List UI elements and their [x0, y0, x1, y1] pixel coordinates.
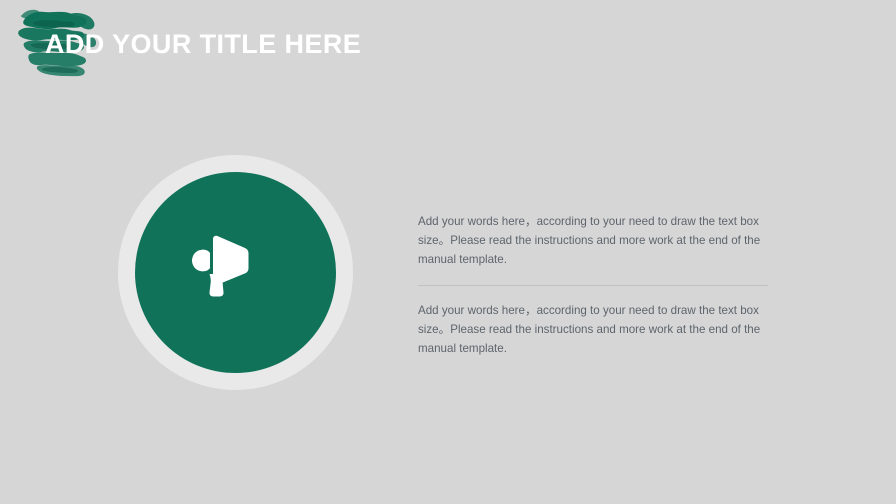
icon-medallion — [118, 155, 353, 390]
paragraph-divider — [418, 285, 768, 286]
page-title: ADD YOUR TITLE HERE — [45, 28, 361, 60]
text-column: Add your words here，according to your ne… — [418, 212, 770, 358]
body-paragraph-2: Add your words here，according to your ne… — [418, 301, 770, 358]
title-block: ADD YOUR TITLE HERE — [0, 0, 420, 95]
megaphone-icon — [173, 213, 269, 309]
body-paragraph-1: Add your words here，according to your ne… — [418, 212, 770, 269]
